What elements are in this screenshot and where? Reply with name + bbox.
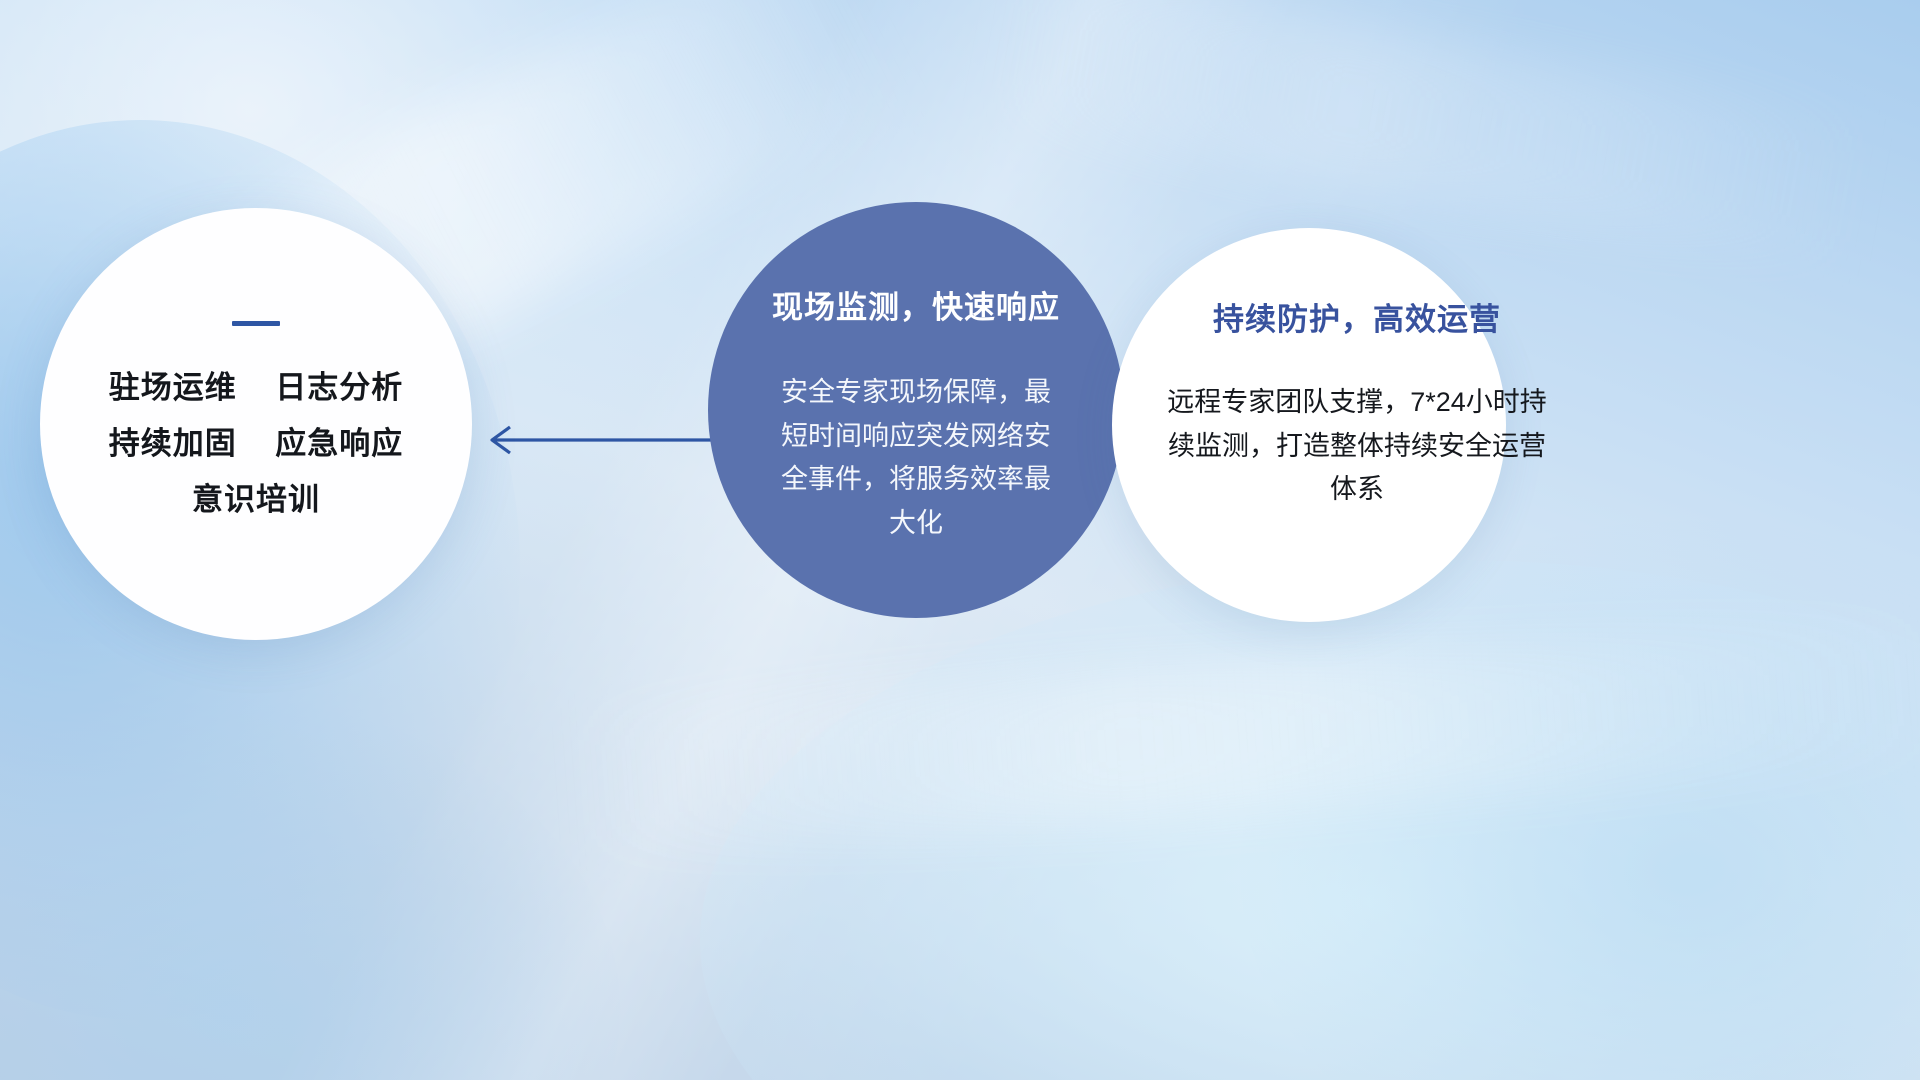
slide-canvas: 驻场运维 日志分析 持续加固 应急响应 意识培训 现场监测，快速响应 安全专家现… <box>0 0 1920 1080</box>
left-service-keyword-list: 驻场运维 日志分析 持续加固 应急响应 意识培训 <box>109 360 403 527</box>
list-item: 持续加固 应急响应 <box>109 416 403 472</box>
flow-arrow-left-icon <box>470 405 730 475</box>
background-light-streak <box>973 0 1887 277</box>
right-circle-body: 远程专家团队支撑，7*24小时持续监测，打造整体持续安全运营体系 <box>1167 381 1547 512</box>
list-item: 意识培训 <box>109 472 403 528</box>
right-continuous-circle: 持续防护，高效运营 远程专家团队支撑，7*24小时持续监测，打造整体持续安全运营… <box>1112 228 1506 622</box>
background-glow-bottom-left <box>0 700 620 1080</box>
middle-circle-title: 现场监测，快速响应 <box>772 282 1060 327</box>
left-service-circle: 驻场运维 日志分析 持续加固 应急响应 意识培训 <box>40 208 472 640</box>
divider-dash-icon <box>232 321 280 326</box>
middle-onsite-circle: 现场监测，快速响应 安全专家现场保障，最短时间响应突发网络安全事件，将服务效率最… <box>708 202 1124 618</box>
middle-circle-body: 安全专家现场保障，最短时间响应突发网络安全事件，将服务效率最大化 <box>775 371 1057 546</box>
list-item: 驻场运维 日志分析 <box>109 360 403 416</box>
background-light-streak <box>556 611 1920 858</box>
right-circle-title: 持续防护，高效运营 <box>1213 294 1501 339</box>
